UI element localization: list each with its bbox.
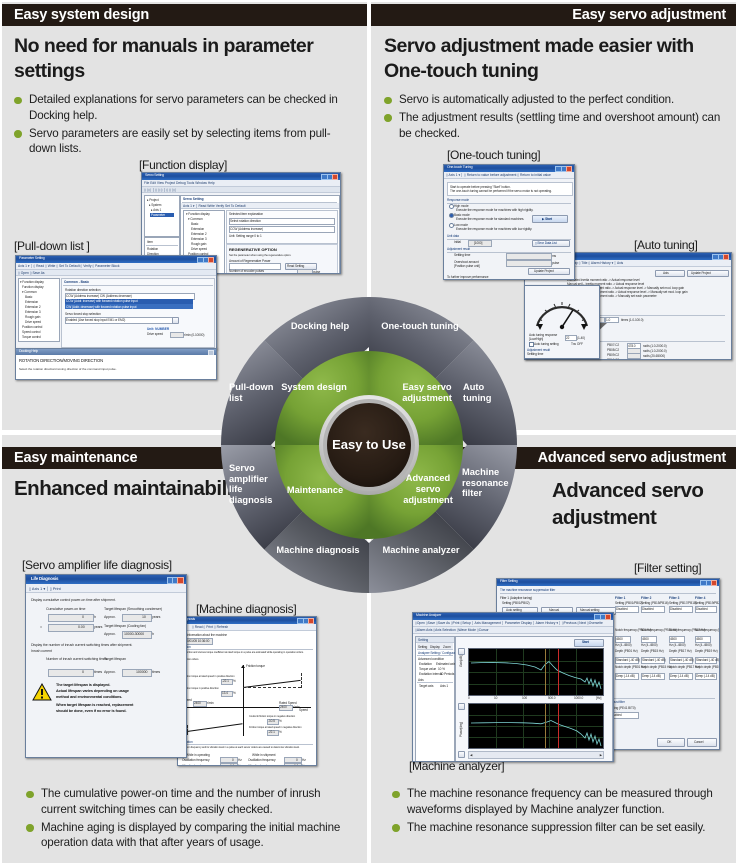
vib-left-title: While in operating [186,753,210,757]
target-lifespan-smoothing-value: 10 [142,615,146,619]
cursor-a[interactable] [545,649,546,695]
cumulative-label: Cumulative power-on time [46,607,85,611]
chart-bottom-expand-button[interactable] [458,703,465,710]
gain-plot [468,648,604,696]
warning-icon [32,683,52,701]
start-label: Start [582,640,589,644]
friction-positive-value: -22.1 [222,679,229,683]
approx-label-1: Approx. [104,615,116,619]
filter-col-1-setting-value: Disabled [616,607,628,611]
xtick-0: 0 [468,696,470,700]
panel-header-easy-servo-adjustment: Easy servo adjustment [371,4,736,26]
filter-col-3-header: Filter 3 [669,596,679,600]
inrush-count-value: 0 [82,670,84,674]
window-title: Life Diagnosis [31,576,58,581]
approx-label-2: Approx. [104,632,116,636]
vibration-desc: Vibration frequency and its vibration le… [181,746,300,749]
hub-circle[interactable] [327,403,411,487]
help-text: Select the rotation direction/moving dir… [19,367,117,371]
adjustment-result-label: Adjustment result [447,247,470,251]
response-mode-label: Response mode [447,198,469,202]
filter1-setting-label: Setting (PB01/PB02) [502,601,530,605]
filter-col-1-depth-value: Standard (-40 dB) [616,658,640,662]
xtick-2: 100 [522,696,527,700]
filter-col-4-freq-label: Notch frequency (PB19 Hz) [695,628,720,632]
regenerative-note: Set the parameter when using the regener… [229,253,291,257]
filter-col-2-setting-label: Setting (PB15/PB16) [641,601,669,605]
caption-machine-diagnosis: [Machine diagnosis] [196,602,296,616]
filter-col-2-width-value: Deep (-14 dB) [642,674,661,678]
filter-col-2-width-label: Notch depth (PB15 Hz) [641,665,672,669]
cursor-b[interactable] [558,704,559,748]
friction-chart: Friction torque Speed Friction torque at… [181,663,313,738]
filter-col-2-setting-value: Disabled [642,607,654,611]
xtick-1: 10 [494,696,497,700]
filter-col-3-freq-value: 4500 [670,637,677,641]
analyzer-tabs[interactable]: Setting Display Zoom [417,643,453,650]
chart-top-expand-button[interactable] [458,648,465,655]
project-tree[interactable]: ▸ Project ▸ System ▸ Axis 1 Parameter [144,195,180,237]
filter-col-4-width-value: Deep (-14 dB) [696,674,715,678]
target-axis-value: Axis 1 [440,684,448,688]
section2-label: Display the number of inrush current swi… [31,643,132,647]
section2b-label: Inrush current [31,649,52,653]
list-item: Detailed explanations for servo paramete… [14,92,354,124]
interval-value: 10 Periods [440,672,454,676]
vib-level-right-value: 0.0 [294,764,298,767]
vib-right-title: While in shipment [252,753,275,757]
friction-torque-value: 13.4 [222,691,228,695]
vib-level-left-value: 0.0 [230,764,234,767]
window-body: The information about the machine 2010/0… [178,631,316,766]
gain-curve [469,649,603,695]
caption-life-diagnosis: [Servo amplifier life diagnosis] [22,558,172,572]
target-lifespan-smoothing-label: Target lifespan (Smoothing condenser) [104,607,162,611]
analyzer-chart-area: Start Gain[dB] 0 10 100 500.0 [455,636,613,762]
approx-label-3: Approx. [104,670,116,674]
cumulative-unit: h [94,615,96,619]
filter-col-4-freq-range: Hz (4.-4500) [695,643,712,647]
chart-xlabel: [Hz] [596,696,601,700]
target-lifespan-smoothing-unit: years [152,615,160,619]
osc-freq-left-label: Oscillation frequency [182,758,210,762]
inrush-target-unit: times [152,670,160,674]
titlebar[interactable]: Diagnosis [178,617,316,624]
filter-col-4-setting-label: Setting (PB19/PB20) [695,601,720,605]
phase-curve [469,704,603,748]
cumulative-years-unit: years [94,625,102,629]
excitation-value: Estimated axis [436,662,455,666]
warning-line-1: The target lifespan is displayed. [56,683,110,687]
inrush-target-label: Target lifespan [104,657,126,661]
window-body: Start to operate before pressing "Start"… [444,179,574,280]
window-one-touch-tuning[interactable]: One-touch Tuning ▯ Axis 1 ▾ │ ▯ Return t… [443,164,575,280]
torque-label: Torque value [419,667,436,671]
chart-top-ylabel: Gain[dB] [459,655,463,667]
filter-col-1-width-value: Deep (-14 dB) [616,674,635,678]
filter-col-1-freq-value: 4500 [616,637,623,641]
friction-desc: The friction and viscous torque coeffici… [181,651,304,654]
toolbar-primary[interactable]: ▯Open ▯Save ▯Save As ▯Print ▯Setup │ Axi… [413,620,613,627]
filter-col-4-header: Filter 4 [695,596,705,600]
cumulative-power-on-field [48,614,94,622]
panel-section: Advanced condition [418,657,444,661]
target-axis-label: Target axis [419,684,433,688]
unit-data-label: Unit data [447,234,459,238]
inrush-count-label: Number of inrush current switching times [46,657,107,661]
target-lifespan-fan-value: 10000-30000 [124,632,144,636]
panel-header-easy-system-design: Easy system design [2,4,367,26]
window-docking-help[interactable]: Docking Help ROTATION DIRECTION/MOVING D… [15,348,217,380]
window-body: Display cumulative control power-on time… [26,593,186,758]
warning-line-5: should be done, even if no error is foun… [56,709,126,713]
caption-filter-setting: [Filter setting] [634,561,701,575]
menubar[interactable]: File Edit View Project Debug Tools Windo… [142,180,340,187]
list-item: The machine resonance suppression filter… [392,820,722,836]
caption-pulldown-list: [Pull-down list ] [14,239,90,253]
toolbar[interactable]: ▯ Axis 1 ▾ │ ▯ Print [26,584,186,593]
filter-col-2-freq-range: Hz (4.-4500) [641,643,658,647]
titlebar[interactable]: Machine Analyzer [413,613,613,620]
speed-value: 2400 [194,701,201,705]
window-machine-diagnosis[interactable]: Diagnosis ▯ Read ▯ Print ▯ Refresh The i… [177,616,317,766]
toolbar[interactable]: ▯ Axis 1 ▾ │ ▯ Return to value before ad… [444,172,574,179]
bullet-list-advanced: The machine resonance frequency can be m… [392,786,722,837]
window-body: Setting Setting Display Zoom Analyzer Se… [413,634,613,762]
filter-col-3-depth-value: Standard (-40 dB) [670,658,694,662]
window-title: One-touch Tuning [447,165,472,169]
window-body: ▾ Function display Function display ▾ Co… [16,276,216,349]
cursor-a[interactable] [545,704,546,748]
window-title: Servo Setting [145,173,164,177]
filter-col-4-width-label: Notch depth (PB19 Hz) [695,665,720,669]
info-label: The information about the machine [181,633,227,637]
regenerative-option-heading: REGENERATIVE OPTION [229,247,277,252]
list-item: Machine aging is displayed by comparing … [26,820,346,852]
titlebar[interactable]: Life Diagnosis [26,575,186,584]
filter-col-2-depth-label: Depth (PB15 Hz) [641,649,664,653]
close-icon[interactable] [177,577,184,584]
filter-col-1-freq-range: Hz (4.-4500) [615,643,632,647]
target-lifespan-fan-unit: h [152,632,154,636]
caption-function-display: [Function display] [139,158,227,172]
titlebar[interactable]: Filter Setting [497,579,719,586]
toolbar[interactable]: ▯ Read ▯ Print ▯ Refresh [178,624,316,631]
toolbar-secondary[interactable]: ▯Alarm Axis ▯Axis Selection ▯Wave Mode ▯… [413,627,613,634]
parameter-group: Selected item explanation Select rotatio… [226,210,338,244]
filter-col-2-header: Filter 2 [641,596,651,600]
torque-value: 10 % [438,667,445,671]
excitation-label: Excitation [419,662,432,666]
warning-line-4: When target lifespan is reached, replace… [56,703,133,707]
list-item: Servo parameters are easily set by selec… [14,126,354,158]
ok-label: OK [667,740,671,744]
analyzer-settings-panel[interactable]: Setting Setting Display Zoom Analyzer Se… [415,636,455,762]
window-body: Auto tuning response [Low/High] 22 (1-40… [525,286,599,358]
axis-button[interactable] [655,270,685,277]
list-item: Servo is automatically adjusted to the p… [384,92,724,108]
setting-pane: Common - Basic Rotation direction select… [61,278,215,348]
parameter-tree[interactable]: ▾ Function display Function display ▾ Co… [18,278,60,342]
titlebar[interactable]: Servo Setting [142,173,340,180]
window-title: Machine Analyzer [416,613,441,617]
page-title-system-design: No need for manuals in parameter setting… [14,34,344,84]
filter-col-3-freq-range: Hz (4.-4500) [669,643,686,647]
caption-one-touch-tuning: [One-touch tuning] [447,148,540,162]
page-title-servo-adjustment: Servo adjustment made easier with One-to… [384,34,714,84]
filter1-adaptive-label: Filter 1 (Adaptive tuning) [500,596,532,600]
osc-freq-right-label: Oscillation frequency [248,758,276,762]
chevron-down-icon[interactable] [172,317,179,324]
xtick-3: 500.0 [548,696,555,700]
chart-xlabel: Speed [299,708,308,712]
filter-col-2-depth-value: Standard (-40 dB) [642,658,666,662]
cumulative-value: 0 [82,615,84,619]
start-button[interactable] [574,639,604,647]
bullet-list-system-design: Detailed explanations for servo paramete… [14,92,354,159]
bullet-list-servo-adjustment: Servo is automatically adjusted to the p… [384,92,724,143]
chart-ylabel: Friction torque [246,664,265,668]
filter-col-1-depth-label: Depth (PB01 Hz) [615,649,638,653]
list-item: The adjustment results (settling time an… [384,110,724,142]
page-title-advanced: Advanced servo adjustment [552,478,732,531]
window-title: Parameter Setting [19,256,45,260]
friction-negative-value: -22.1 [268,730,275,734]
bullet-list-maintenance: The cumulative power-on time and the num… [26,786,346,853]
filter-col-2-freq-value: 4500 [642,637,649,641]
osc-freq-right-value: 0 [296,758,298,762]
warning-line-2: Actual lifespan varies depending on usag… [56,689,129,693]
chart-bottom-ylabel: Phase[deg] [459,722,463,737]
window-tuning-gauge[interactable]: Auto tuning response [Low/High] 22 (1-40… [524,285,600,359]
filter-col-1-header: Filter 1 [615,596,625,600]
section1-label: Display cumulative control power-on time… [31,598,116,602]
help-heading: ROTATION DIRECTION/MOVING DIRECTION [19,358,103,363]
filter-col-1-setting-label: Setting (PB01/PB02) [615,601,643,605]
info-box: Start to operate before pressing "Start"… [447,182,573,196]
horizontal-scrollbar[interactable]: ◀ ▶ [468,751,604,759]
cancel-label: Cancel [694,740,703,744]
filter-col-3-depth-label: Depth (PB17 Hz) [669,649,692,653]
inner-toolbar[interactable]: Axis 1 ▾ │ Read Write Verify Set To Defa… [181,203,339,209]
filter-col-4-freq-value: 4500 [696,637,703,641]
caption-auto-tuning: [Auto tuning] [634,238,697,252]
easy-to-use-wheel: Docking help One-touch tuning Auto tunin… [219,295,519,595]
list-item: The machine resonance frequency can be m… [392,786,722,818]
window-body: ROTATION DIRECTION/MOVING DIRECTION Sele… [16,355,216,381]
inrush-count-unit: times [94,670,102,674]
window-life-diagnosis[interactable]: Life Diagnosis ▯ Axis 1 ▾ │ ▯ Print Disp… [25,574,187,758]
xtick-4: 1000.0 [574,696,583,700]
cursor-b[interactable] [558,649,559,695]
titlebar[interactable]: One-touch Tuning [444,165,574,172]
list-item: The cumulative power-on time and the num… [26,786,346,818]
filter-col-4-depth-label: Depth (PB19 Hz) [695,649,718,653]
filter-col-4-depth-value: Standard (-40 dB) [696,658,720,662]
filter-col-4-setting-value: Disabled [696,607,708,611]
vib-level-right-label: Vibration level [248,764,266,766]
osc-freq-left-value: 0 [232,758,234,762]
tuning-button[interactable] [528,279,570,280]
target-lifespan-fan-label: Target lifespan (Cooling fan) [104,624,146,628]
filter-col-3-setting-label: Setting (PB17/PB18) [669,601,697,605]
filter-col-3-width-value: Deep (-14 dB) [670,674,689,678]
chart-scroll-button[interactable] [458,751,465,758]
window-machine-analyzer[interactable]: Machine Analyzer ▯Open ▯Save ▯Save As ▯P… [412,612,614,762]
warning-line-3: method and environmental conditions. [56,695,122,699]
window-title: Docking Help [19,349,38,353]
filter-col-3-setting-value: Disabled [670,607,682,611]
interval-label: Excitation interval [419,672,442,676]
regenerative-option-group: REGENERATIVE OPTION Set the parameter wh… [226,244,338,274]
phase-plot [468,703,604,749]
vib-level-left-label: Vibration level [182,764,200,766]
titlebar[interactable]: Parameter Setting [16,256,216,263]
window-parameter-setting[interactable]: Parameter Setting Axis 1 ▾ │ ▯ Read ▯ Wr… [15,255,217,349]
coulomb-friction-value: -10.5 [268,719,275,723]
inrush-target-value: 100000 [136,670,147,674]
cumulative-years-value: 0.00 [78,625,85,629]
toolbar[interactable]: Axis 1 ▾ │ ▯ Read ▯ Write ▯ Set To Defau… [16,263,216,270]
